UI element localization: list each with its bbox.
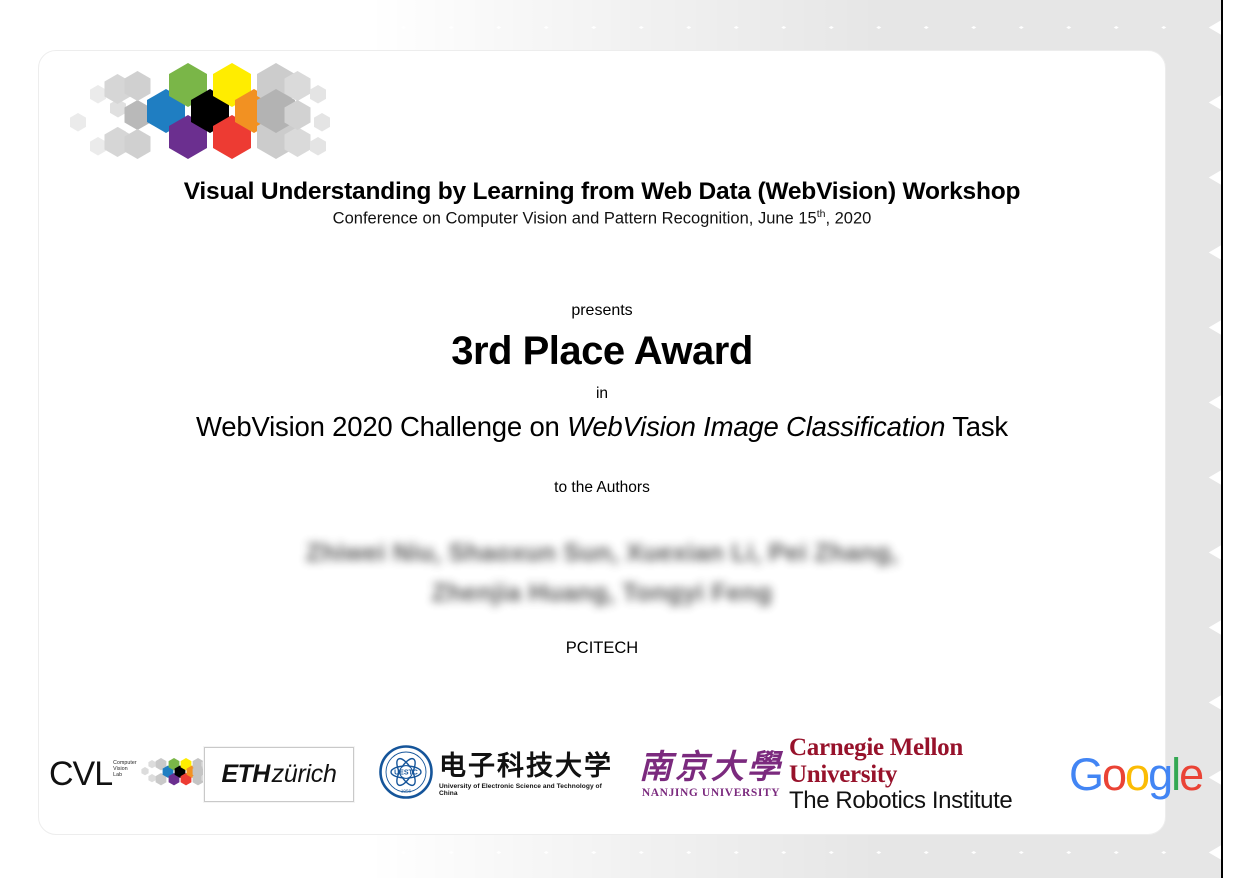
cmu-institute-name: The Robotics Institute [789, 788, 1064, 814]
cvl-line-3: Lab [113, 772, 137, 778]
google-letter-4: g [1148, 749, 1171, 800]
nju-chinese-name: 南京大學 [639, 750, 783, 786]
cvl-acronym: CVL [49, 757, 112, 791]
google-letter-1: G [1069, 749, 1102, 800]
in-label: in [39, 385, 1165, 403]
challenge-task-line: WebVision 2020 Challenge on WebVision Im… [39, 411, 1165, 443]
logo-nanjing-university: 南京大學 NANJING UNIVERSITY [639, 728, 799, 820]
subtitle-suffix: , 2020 [825, 210, 871, 228]
team-name: PCITECH [39, 639, 1165, 658]
authors-redacted-block: Zhiwei Niu, Shaoxun Sun, Xuexian Li, Pei… [39, 533, 1165, 613]
google-letter-6: e [1179, 749, 1202, 800]
certificate-card: Visual Understanding by Learning from We… [38, 50, 1166, 835]
uestc-english-name: University of Electronic Science and Tec… [439, 783, 619, 797]
eth-acronym: ETH [221, 760, 269, 789]
google-letter-5: l [1171, 749, 1179, 800]
right-edge-rule [1221, 0, 1223, 878]
logo-cvl: CVL Computer Vision Lab [49, 728, 204, 820]
google-wordmark: Google [1069, 752, 1202, 797]
eth-city: zürich [272, 760, 337, 789]
svg-text:UESTC: UESTC [394, 769, 418, 776]
conference-subtitle: Conference on Computer Vision and Patter… [39, 208, 1165, 229]
google-letter-2: o [1102, 749, 1125, 800]
presents-label: presents [39, 302, 1165, 320]
certificate-page: Visual Understanding by Learning from We… [0, 0, 1233, 878]
to-authors-label: to the Authors [39, 479, 1165, 497]
logo-google: Google [1069, 728, 1204, 820]
subtitle-prefix: Conference on Computer Vision and Patter… [333, 210, 817, 228]
task-prefix: WebVision 2020 Challenge on [196, 411, 567, 442]
uestc-seal-icon: UESTC 1956 [379, 745, 433, 804]
nju-english-name: NANJING UNIVERSITY [642, 787, 780, 799]
cvl-hexagon-icon [141, 754, 213, 795]
workshop-title: Visual Understanding by Learning from We… [39, 178, 1165, 206]
logo-carnegie-mellon: Carnegie Mellon University The Robotics … [789, 728, 1064, 820]
award-title: 3rd Place Award [39, 329, 1165, 374]
logo-eth-zurich: ETH zürich [205, 728, 353, 820]
cvl-fullname: Computer Vision Lab [113, 760, 137, 779]
sponsor-logo-row: CVL Computer Vision Lab [39, 728, 1165, 820]
task-emphasis: WebVision Image Classification [567, 411, 945, 442]
svg-text:1956: 1956 [401, 788, 412, 793]
task-suffix: Task [945, 411, 1008, 442]
uestc-chinese-name: 电子科技大学 [439, 751, 619, 781]
author-line: Zhiwei Niu, Shaoxun Sun, Xuexian Li, Pei… [39, 533, 1165, 573]
author-line: Zhenjia Huang, Tongyi Feng [39, 573, 1165, 613]
logo-uestc: UESTC 1956 电子科技大学 University of Electron… [379, 728, 619, 820]
webvision-hexagon-logo [61, 57, 336, 172]
google-letter-3: o [1125, 749, 1148, 800]
cmu-university-name: Carnegie Mellon University [789, 734, 1064, 788]
